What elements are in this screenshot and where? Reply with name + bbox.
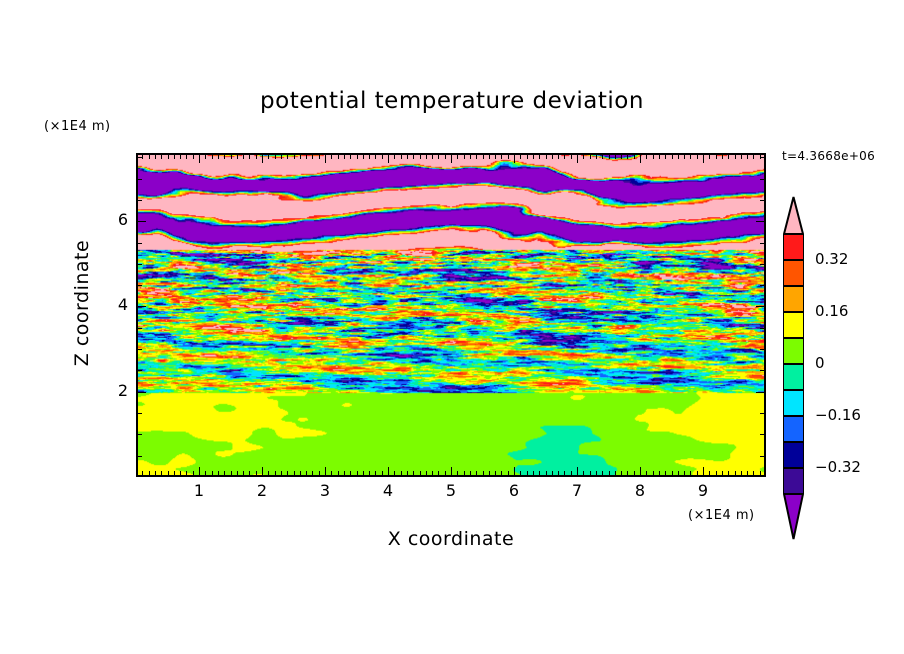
colorbar-band xyxy=(783,364,804,390)
x-tick-top xyxy=(268,154,269,159)
x-tick-top xyxy=(275,154,276,159)
x-tick xyxy=(672,471,673,476)
x-tick xyxy=(735,471,736,476)
x-tick-top xyxy=(489,154,490,159)
x-tick xyxy=(728,471,729,476)
x-tick xyxy=(539,471,540,476)
x-tick-top xyxy=(520,154,521,159)
x-tick xyxy=(438,471,439,476)
y-axis-label: Z coordinate xyxy=(71,213,93,393)
contour-plot-area xyxy=(136,153,766,477)
x-axis-label: X coordinate xyxy=(136,528,766,550)
colorbar: 0.320.160−0.16−0.32 xyxy=(779,196,807,526)
x-tick xyxy=(697,471,698,476)
x-tick xyxy=(634,471,635,476)
x-tick xyxy=(287,471,288,476)
x-tick xyxy=(149,471,150,476)
x-tick-top xyxy=(735,154,736,159)
x-tick xyxy=(388,467,389,476)
x-tick xyxy=(300,471,301,476)
y-tick xyxy=(137,328,142,329)
x-tick xyxy=(627,471,628,476)
x-tick xyxy=(741,471,742,476)
x-tick xyxy=(262,467,263,476)
x-tick xyxy=(369,471,370,476)
x-tick-top xyxy=(533,154,534,159)
x-tick-top xyxy=(665,154,666,159)
y-tick-right xyxy=(760,285,765,286)
x-tick xyxy=(489,471,490,476)
x-tick-label: 3 xyxy=(310,481,340,500)
x-tick xyxy=(161,471,162,476)
x-tick xyxy=(413,471,414,476)
x-tick xyxy=(306,471,307,476)
x-tick-top xyxy=(678,154,679,159)
x-tick xyxy=(609,471,610,476)
x-tick xyxy=(508,471,509,476)
x-tick xyxy=(495,471,496,476)
colorbar-under-cap xyxy=(783,494,804,540)
x-tick-top xyxy=(527,154,528,159)
colorbar-band xyxy=(783,338,804,364)
x-tick-top xyxy=(243,154,244,159)
x-tick xyxy=(256,471,257,476)
y-tick xyxy=(137,264,142,265)
x-tick xyxy=(520,471,521,476)
x-tick-top xyxy=(382,154,383,159)
x-tick-top xyxy=(369,154,370,159)
colorbar-band xyxy=(783,390,804,416)
y-tick-right xyxy=(760,243,765,244)
x-tick-top xyxy=(697,154,698,159)
colorbar-band xyxy=(783,442,804,468)
colorbar-band xyxy=(783,468,804,494)
y-tick-label: 2 xyxy=(102,381,128,400)
x-tick-top xyxy=(728,154,729,159)
y-tick-right xyxy=(756,392,765,393)
x-tick-top xyxy=(495,154,496,159)
colorbar-band xyxy=(783,312,804,338)
x-tick xyxy=(205,471,206,476)
x-tick xyxy=(665,471,666,476)
x-tick-top xyxy=(180,154,181,159)
x-tick-top xyxy=(231,154,232,159)
y-tick xyxy=(137,243,142,244)
x-tick-top xyxy=(476,154,477,159)
x-tick-top xyxy=(155,154,156,159)
x-tick-label: 5 xyxy=(436,481,466,500)
x-tick-top xyxy=(401,154,402,159)
x-tick xyxy=(338,471,339,476)
x-tick xyxy=(268,471,269,476)
x-tick-top xyxy=(634,154,635,159)
y-tick-right xyxy=(760,328,765,329)
x-tick xyxy=(760,471,761,476)
x-tick-top xyxy=(186,154,187,159)
colorbar-band xyxy=(783,260,804,286)
x-tick xyxy=(602,471,603,476)
colorbar-band xyxy=(783,416,804,442)
x-tick-top xyxy=(703,154,704,163)
x-tick-top xyxy=(149,154,150,159)
x-tick-top xyxy=(571,154,572,159)
y-tick xyxy=(137,221,146,222)
x-tick-top xyxy=(640,154,641,163)
colorbar-over-cap xyxy=(783,196,804,234)
x-tick xyxy=(703,467,704,476)
x-tick xyxy=(363,471,364,476)
x-tick xyxy=(281,471,282,476)
x-tick xyxy=(558,471,559,476)
y-tick xyxy=(137,370,142,371)
x-tick-top xyxy=(193,154,194,159)
y-tick xyxy=(137,306,146,307)
x-tick-top xyxy=(753,154,754,159)
y-tick xyxy=(137,456,142,457)
x-tick-top xyxy=(237,154,238,159)
x-tick xyxy=(432,471,433,476)
y-tick-right xyxy=(760,179,765,180)
x-tick-top xyxy=(325,154,326,163)
x-tick-top xyxy=(552,154,553,159)
x-tick xyxy=(401,471,402,476)
x-tick xyxy=(653,471,654,476)
x-tick xyxy=(420,471,421,476)
x-tick-top xyxy=(483,154,484,159)
x-tick xyxy=(294,471,295,476)
x-tick xyxy=(640,467,641,476)
x-tick xyxy=(407,471,408,476)
colorbar-band xyxy=(783,286,804,312)
x-tick-top xyxy=(407,154,408,159)
x-tick-top xyxy=(199,154,200,163)
x-tick-top xyxy=(363,154,364,159)
x-tick-top xyxy=(420,154,421,159)
x-tick-top xyxy=(161,154,162,159)
x-tick xyxy=(382,471,383,476)
x-tick-top xyxy=(590,154,591,159)
x-tick-top xyxy=(432,154,433,159)
x-tick-top xyxy=(508,154,509,159)
x-tick-top xyxy=(338,154,339,159)
x-tick xyxy=(470,471,471,476)
x-tick xyxy=(319,471,320,476)
x-tick-label: 8 xyxy=(625,481,655,500)
x-tick xyxy=(709,471,710,476)
x-tick-label: 9 xyxy=(688,481,718,500)
y-tick-right xyxy=(760,349,765,350)
x-tick-top xyxy=(546,154,547,159)
y-tick xyxy=(137,200,142,201)
x-tick xyxy=(231,471,232,476)
y-tick-label: 4 xyxy=(102,295,128,314)
x-tick xyxy=(716,471,717,476)
x-tick xyxy=(426,471,427,476)
x-tick xyxy=(237,471,238,476)
x-tick xyxy=(659,471,660,476)
y-tick-right xyxy=(760,200,765,201)
x-tick xyxy=(678,471,679,476)
x-tick-top xyxy=(344,154,345,159)
timestamp-annotation: t=4.3668e+06 xyxy=(782,149,875,163)
x-tick-top xyxy=(501,154,502,159)
x-tick xyxy=(514,467,515,476)
x-tick xyxy=(501,471,502,476)
y-tick xyxy=(137,434,142,435)
x-tick xyxy=(527,471,528,476)
x-tick xyxy=(312,471,313,476)
x-tick xyxy=(457,471,458,476)
x-tick-top xyxy=(672,154,673,159)
x-tick-top xyxy=(331,154,332,159)
x-tick xyxy=(155,471,156,476)
x-tick-top xyxy=(300,154,301,159)
y-axis-units: (×1E4 m) xyxy=(44,119,111,134)
x-tick-top xyxy=(357,154,358,159)
x-tick xyxy=(621,471,622,476)
x-tick-top xyxy=(646,154,647,159)
x-tick-label: 4 xyxy=(373,481,403,500)
x-axis-units: (×1E4 m) xyxy=(688,508,755,523)
x-tick-top xyxy=(281,154,282,159)
x-tick xyxy=(331,471,332,476)
x-tick-top xyxy=(602,154,603,159)
x-tick-top xyxy=(438,154,439,159)
x-tick xyxy=(199,467,200,476)
x-tick-top xyxy=(174,154,175,159)
x-tick xyxy=(684,471,685,476)
y-tick-right xyxy=(760,264,765,265)
x-tick xyxy=(350,471,351,476)
y-tick xyxy=(137,157,142,158)
x-tick xyxy=(325,467,326,476)
x-tick-top xyxy=(539,154,540,159)
x-tick xyxy=(357,471,358,476)
x-tick xyxy=(753,471,754,476)
x-tick-top xyxy=(445,154,446,159)
y-tick-right xyxy=(756,221,765,222)
x-tick-top xyxy=(350,154,351,159)
x-tick-top xyxy=(306,154,307,159)
x-tick-label: 7 xyxy=(562,481,592,500)
x-tick xyxy=(646,471,647,476)
x-tick xyxy=(344,471,345,476)
x-tick-label: 6 xyxy=(499,481,529,500)
x-tick-top xyxy=(394,154,395,159)
x-tick-top xyxy=(722,154,723,159)
x-tick xyxy=(577,467,578,476)
x-tick xyxy=(552,471,553,476)
x-tick-label: 1 xyxy=(184,481,214,500)
x-tick-top xyxy=(413,154,414,159)
x-tick xyxy=(476,471,477,476)
x-tick xyxy=(596,471,597,476)
x-tick-top xyxy=(690,154,691,159)
x-tick xyxy=(212,471,213,476)
x-tick xyxy=(249,471,250,476)
colorbar-tick-label: 0.32 xyxy=(815,250,848,268)
x-tick xyxy=(722,471,723,476)
x-tick xyxy=(546,471,547,476)
x-tick-top xyxy=(621,154,622,159)
x-tick-top xyxy=(256,154,257,159)
x-tick xyxy=(174,471,175,476)
x-tick-top xyxy=(659,154,660,159)
x-tick-top xyxy=(168,154,169,159)
x-tick-top xyxy=(451,154,452,163)
x-tick-top xyxy=(747,154,748,159)
x-tick-top xyxy=(653,154,654,159)
colorbar-band xyxy=(783,234,804,260)
x-tick-top xyxy=(741,154,742,159)
y-tick-right xyxy=(760,413,765,414)
x-tick-top xyxy=(142,154,143,159)
x-tick-top xyxy=(514,154,515,163)
y-tick-right xyxy=(760,434,765,435)
page-title: potential temperature deviation xyxy=(0,88,904,114)
x-tick xyxy=(483,471,484,476)
x-tick-label: 2 xyxy=(247,481,277,500)
x-tick xyxy=(394,471,395,476)
x-tick xyxy=(243,471,244,476)
y-tick-right xyxy=(760,370,765,371)
temperature-deviation-field xyxy=(138,155,764,475)
x-tick xyxy=(218,471,219,476)
x-tick-top xyxy=(596,154,597,159)
colorbar-tick-label: −0.32 xyxy=(815,458,861,476)
x-tick-top xyxy=(709,154,710,159)
x-tick xyxy=(275,471,276,476)
x-tick-top xyxy=(609,154,610,159)
x-tick xyxy=(168,471,169,476)
x-tick-top xyxy=(262,154,263,163)
x-tick-top xyxy=(205,154,206,159)
x-tick xyxy=(142,471,143,476)
y-tick xyxy=(137,349,142,350)
x-tick-top xyxy=(583,154,584,159)
y-tick xyxy=(137,392,146,393)
x-tick-top xyxy=(684,154,685,159)
x-tick-top xyxy=(319,154,320,159)
x-tick-top xyxy=(615,154,616,159)
x-tick-top xyxy=(470,154,471,159)
x-tick-top xyxy=(294,154,295,159)
x-tick-top xyxy=(249,154,250,159)
x-tick xyxy=(451,467,452,476)
colorbar-tick-label: −0.16 xyxy=(815,406,861,424)
y-tick xyxy=(137,413,142,414)
x-tick xyxy=(747,471,748,476)
x-tick-top xyxy=(564,154,565,159)
y-tick xyxy=(137,179,142,180)
x-tick-top xyxy=(375,154,376,159)
x-tick-top xyxy=(312,154,313,159)
x-tick xyxy=(180,471,181,476)
x-tick-top xyxy=(218,154,219,159)
x-tick-top xyxy=(388,154,389,163)
y-tick-right xyxy=(760,157,765,158)
colorbar-tick-label: 0 xyxy=(815,354,825,372)
x-tick-top xyxy=(457,154,458,159)
colorbar-tick-label: 0.16 xyxy=(815,302,848,320)
x-tick-top xyxy=(558,154,559,159)
x-tick-top xyxy=(426,154,427,159)
x-tick xyxy=(224,471,225,476)
x-tick xyxy=(464,471,465,476)
x-tick-top xyxy=(464,154,465,159)
y-tick xyxy=(137,285,142,286)
x-tick-top xyxy=(212,154,213,159)
x-tick xyxy=(445,471,446,476)
x-tick xyxy=(533,471,534,476)
y-tick-right xyxy=(756,306,765,307)
x-tick xyxy=(583,471,584,476)
y-tick-right xyxy=(760,456,765,457)
x-tick xyxy=(690,471,691,476)
x-tick-top xyxy=(716,154,717,159)
x-tick-top xyxy=(224,154,225,159)
x-tick xyxy=(564,471,565,476)
x-tick xyxy=(590,471,591,476)
y-tick-label: 6 xyxy=(102,210,128,229)
x-tick xyxy=(186,471,187,476)
x-tick-top xyxy=(627,154,628,159)
x-tick xyxy=(571,471,572,476)
x-tick xyxy=(193,471,194,476)
x-tick xyxy=(375,471,376,476)
x-tick xyxy=(615,471,616,476)
x-tick-top xyxy=(287,154,288,159)
x-tick-top xyxy=(577,154,578,163)
